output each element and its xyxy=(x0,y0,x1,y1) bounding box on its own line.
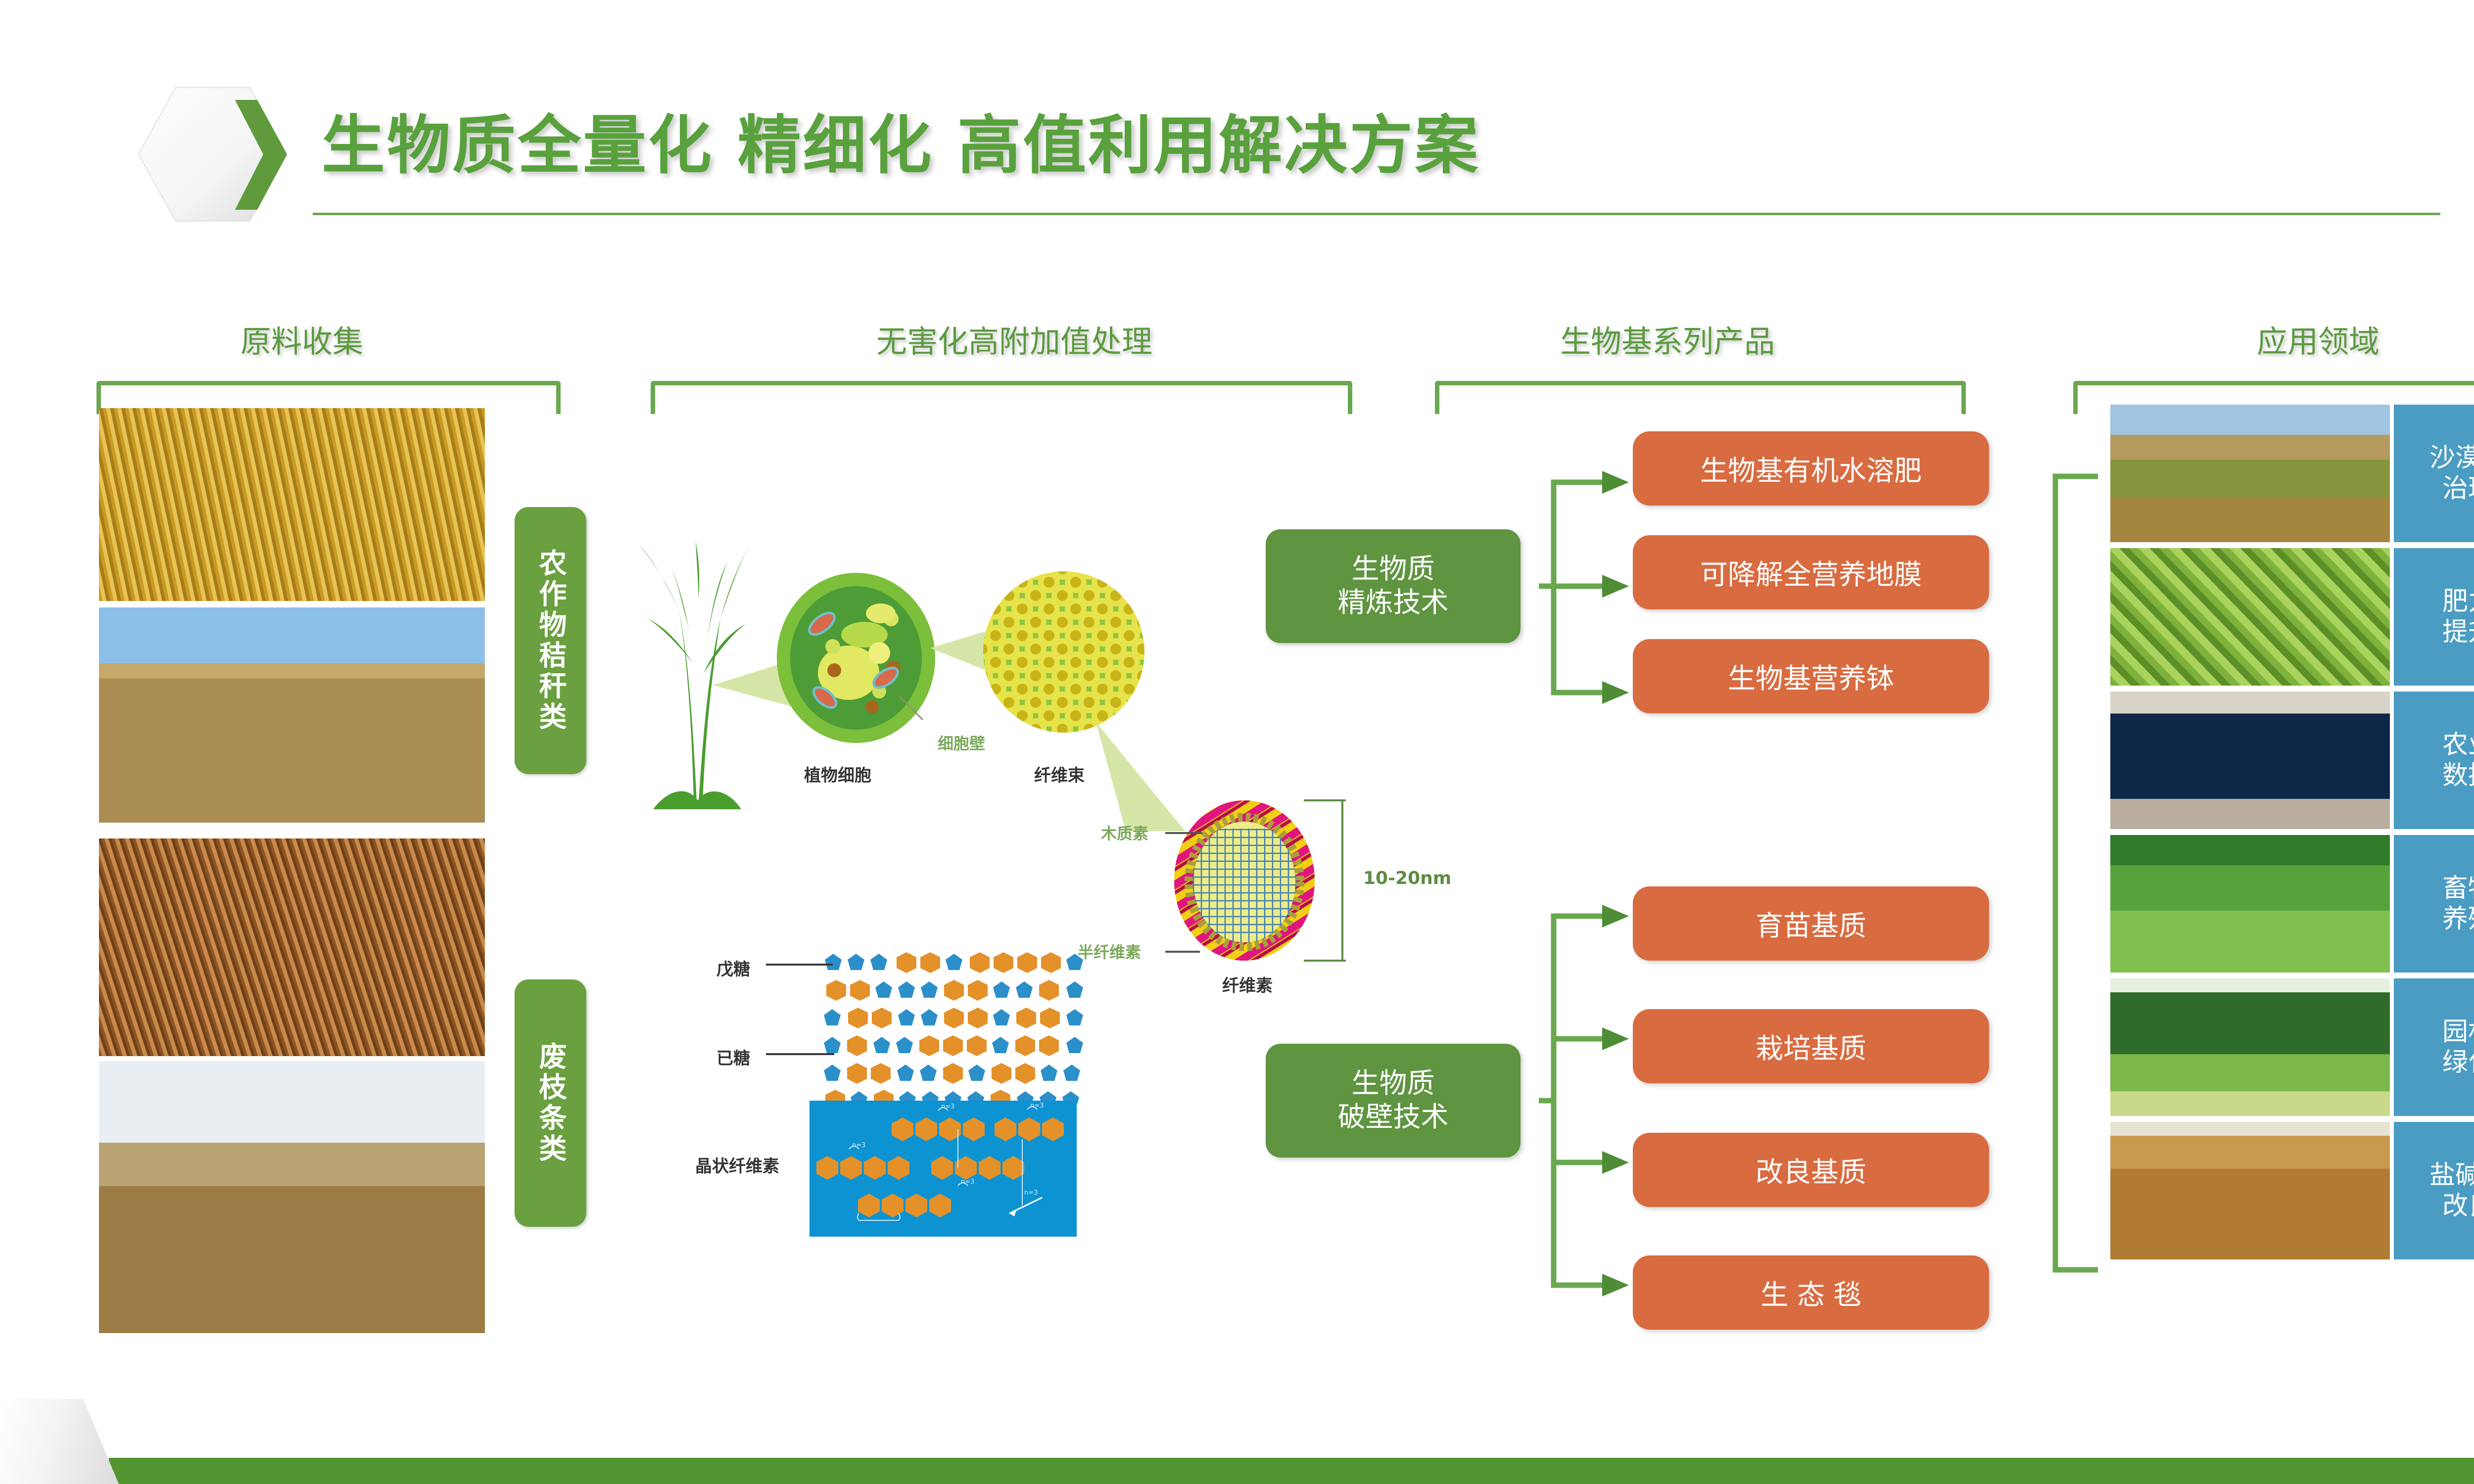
pentose-leader-line xyxy=(766,962,833,967)
fiber-diameter-dimension xyxy=(1299,796,1358,965)
application-label-livestock[interactable]: 畜牧 养殖 xyxy=(2394,835,2474,973)
hexose-leader-line xyxy=(766,1052,834,1057)
section-title-raw-material: 原料收集 xyxy=(143,317,460,361)
branch-pile-photo xyxy=(99,838,485,1056)
fiber-cross-section-illustration xyxy=(1173,799,1316,962)
product-pill-degradable-film[interactable]: 可降解全营养地膜 xyxy=(1633,535,1989,609)
grazing-sheep-photo xyxy=(2110,835,2390,973)
tech-breaking-line2: 破壁技术 xyxy=(1338,1101,1449,1134)
crystalline-cellulose-panel: n=3n=3 n=3n=3 n=3 xyxy=(809,1101,1077,1237)
tech-refining-line1: 生物质 xyxy=(1352,553,1435,586)
label-cell-wall: 细胞壁 xyxy=(938,731,985,754)
applications-bracket xyxy=(2048,472,2103,1274)
app-desert-line1: 沙漠化 xyxy=(2429,443,2474,473)
label-cellulose: 纤维素 xyxy=(1222,972,1273,996)
lignin-leader-line xyxy=(1165,830,1202,836)
cabbage-field-photo xyxy=(2110,548,2390,686)
app-livestock-line2: 养殖 xyxy=(2442,904,2474,934)
application-label-landscaping[interactable]: 园林 绿化 xyxy=(2394,978,2474,1116)
label-plant-cell: 植物细胞 xyxy=(804,762,871,786)
product-pill-ecological-blanket[interactable]: 生 态 毯 xyxy=(1633,1255,1989,1330)
footer-wedge-decoration xyxy=(0,1399,119,1484)
straw-bale-photo xyxy=(99,607,485,823)
app-data-line2: 数据 xyxy=(2442,760,2474,791)
product-pill-cultivation-substrate[interactable]: 栽培基质 xyxy=(1633,1009,1989,1083)
data-center-photo xyxy=(2110,692,2390,829)
application-label-saline-improvement[interactable]: 盐碱地 改良 xyxy=(2394,1122,2474,1259)
raw-group-label-waste-branch: 废枝条类 xyxy=(515,979,586,1227)
tech-refining-line2: 精炼技术 xyxy=(1338,586,1449,620)
section-title-processing: 无害化高附加值处理 xyxy=(703,317,1326,361)
bracket-products xyxy=(1435,381,1966,414)
product-pill-improvement-substrate[interactable]: 改良基质 xyxy=(1633,1133,1989,1207)
desert-control-photo xyxy=(2110,405,2390,542)
tech-breaking-line1: 生物质 xyxy=(1352,1067,1435,1101)
product-pill-water-soluble-fertilizer[interactable]: 生物基有机水溶肥 xyxy=(1633,431,1989,506)
connector-refining-to-products xyxy=(1519,440,1648,747)
bracket-processing xyxy=(651,381,1352,414)
app-livestock-line1: 畜牧 xyxy=(2442,873,2474,904)
corn-straw-photo xyxy=(99,408,485,601)
app-data-line1: 农业 xyxy=(2442,730,2474,760)
section-title-applications: 应用领域 xyxy=(2086,317,2474,361)
tech-box-refining[interactable]: 生物质 精炼技术 xyxy=(1266,529,1521,643)
orchard-prune-photo xyxy=(99,1061,485,1333)
app-landscape-line2: 绿化 xyxy=(2442,1047,2474,1078)
svg-text:n=3: n=3 xyxy=(941,1103,954,1111)
label-hexose: 已糖 xyxy=(716,1045,750,1069)
connector-breaking-to-products xyxy=(1519,881,1648,1306)
application-label-desert-control[interactable]: 沙漠化 治理 xyxy=(2394,405,2474,542)
svg-text:n=3: n=3 xyxy=(961,1178,974,1186)
svg-text:n=3: n=3 xyxy=(1024,1189,1038,1197)
application-label-agri-data[interactable]: 农业 数据 xyxy=(2394,692,2474,829)
svg-text:n=3: n=3 xyxy=(852,1142,865,1149)
raw-group-label-crop-straw: 农作物秸秆类 xyxy=(515,507,586,774)
label-fiber-diameter: 10-20nm xyxy=(1363,868,1451,888)
app-desert-line2: 治理 xyxy=(2442,473,2474,504)
hemicellulose-leader-line xyxy=(1165,949,1200,955)
fiber-bundle-illustration xyxy=(982,569,1145,737)
label-lignin: 木质素 xyxy=(1101,821,1148,844)
page-title: 生物质全量化 精细化 高值利用解决方案 xyxy=(322,94,1480,185)
svg-text:n=3: n=3 xyxy=(1030,1102,1044,1110)
footer-bar xyxy=(109,1458,2474,1484)
tech-box-cell-wall-breaking[interactable]: 生物质 破壁技术 xyxy=(1266,1044,1521,1158)
label-fiber-bundle: 纤维束 xyxy=(1034,762,1085,786)
hexagon-chevron-icon xyxy=(139,80,287,229)
app-fertility-line2: 提升 xyxy=(2442,617,2474,648)
sugar-chain-diagram xyxy=(821,950,1089,1113)
title-rule xyxy=(313,213,2440,215)
product-pill-nutrient-pot[interactable]: 生物基营养钵 xyxy=(1633,639,1989,713)
plant-cell-illustration xyxy=(774,571,938,744)
saline-land-photo xyxy=(2110,1122,2390,1259)
label-crystalline-cellulose: 晶状纤维素 xyxy=(695,1153,779,1177)
label-pentose: 戊糖 xyxy=(716,956,750,980)
app-fertility-line1: 肥力 xyxy=(2442,586,2474,617)
app-landscape-line1: 园林 xyxy=(2442,1017,2474,1047)
app-saline-line2: 改良 xyxy=(2442,1191,2474,1221)
application-label-fertility[interactable]: 肥力 提升 xyxy=(2394,548,2474,686)
product-pill-seedling-substrate[interactable]: 育苗基质 xyxy=(1633,886,1989,961)
app-saline-line1: 盐碱地 xyxy=(2429,1160,2474,1191)
park-forest-photo xyxy=(2110,978,2390,1116)
section-title-products: 生物基系列产品 xyxy=(1430,317,1905,361)
